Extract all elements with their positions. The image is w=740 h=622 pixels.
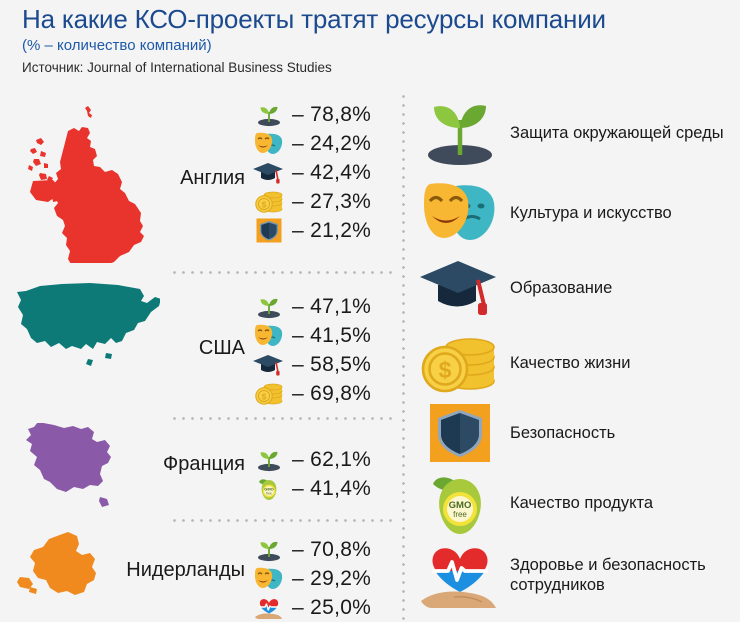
legend-label: Безопасность xyxy=(510,423,615,443)
legend-label: Культура и искусство xyxy=(510,203,672,223)
seedling-icon xyxy=(418,94,502,172)
country-name-england: Англия xyxy=(120,167,245,190)
svg-text:$: $ xyxy=(262,199,267,209)
data-row: – 41,5% xyxy=(248,321,371,350)
theatre-masks-icon xyxy=(248,565,290,592)
data-value: – 47,1% xyxy=(292,295,371,319)
legend-item-environment: Защита окружающей среды xyxy=(418,94,724,172)
country-block-netherlands: Нидерланды – 70,8% xyxy=(0,523,402,622)
header: На какие КСО-проекты тратят ресурсы комп… xyxy=(22,4,722,76)
page-title: На какие КСО-проекты тратят ресурсы комп… xyxy=(22,4,722,34)
graduation-cap-icon xyxy=(248,351,290,378)
data-row: – 25,0% xyxy=(248,593,371,622)
svg-text:$: $ xyxy=(262,391,267,401)
data-value: – 69,8% xyxy=(292,382,371,406)
section-divider-1 xyxy=(170,271,395,274)
data-value: – 41,4% xyxy=(292,477,371,501)
usa-map xyxy=(10,281,160,379)
section-divider-3 xyxy=(170,519,395,522)
country-block-england: Англия – 78,8% xyxy=(0,95,402,271)
country-block-usa: США – 47,1% xyxy=(0,277,402,417)
legend-item-culture: Культура и искусство xyxy=(418,174,672,252)
seedling-icon xyxy=(248,101,290,128)
data-row: – 78,8% xyxy=(248,100,371,129)
source-note: Источник: Journal of International Busin… xyxy=(22,59,722,76)
data-value: – 41,5% xyxy=(292,324,371,348)
seedling-icon xyxy=(248,293,290,320)
svg-text:free: free xyxy=(266,491,272,495)
infographic-canvas: На какие КСО-проекты тратят ресурсы комп… xyxy=(0,0,740,622)
data-value: – 42,4% xyxy=(292,161,371,185)
data-row: $ – 27,3% xyxy=(248,187,371,216)
legend-label: Здоровье и безопасность сотрудников xyxy=(510,555,735,595)
data-row: – 70,8% xyxy=(248,535,371,564)
legend-item-quality-of-life: $ Качество жизни xyxy=(418,324,631,402)
coins-dollar-icon: $ xyxy=(418,324,502,402)
legend-item-education: Образование xyxy=(418,249,612,327)
data-row: – 58,5% xyxy=(248,350,371,379)
data-row: – 62,1% xyxy=(248,445,371,474)
data-rows-england: – 78,8% – 24,2% xyxy=(248,100,371,245)
data-row: – 29,2% xyxy=(248,564,371,593)
legend-item-safety: Безопасность xyxy=(418,394,615,472)
country-block-france: Франция – 62,1% xyxy=(0,421,402,519)
data-rows-usa: – 47,1% – 41,5% xyxy=(248,292,371,408)
theatre-masks-icon xyxy=(248,130,290,157)
data-value: – 24,2% xyxy=(292,132,371,156)
france-map xyxy=(14,423,122,515)
gmo-free-apple-icon: GMO free xyxy=(418,464,502,542)
graduation-cap-icon xyxy=(248,159,290,186)
theatre-masks-icon xyxy=(248,322,290,349)
country-name-france: Франция xyxy=(110,453,245,476)
country-name-netherlands: Нидерланды xyxy=(80,559,245,582)
theatre-masks-icon xyxy=(418,174,502,252)
data-row: $ – 69,8% xyxy=(248,379,371,408)
seedling-icon xyxy=(248,446,290,473)
data-value: – 21,2% xyxy=(292,219,371,243)
legend-item-product-quality: GMO free Качество продукта xyxy=(418,464,653,542)
data-value: – 27,3% xyxy=(292,190,371,214)
data-row: – 21,2% xyxy=(248,216,371,245)
legend-label: Качество жизни xyxy=(510,353,631,373)
coins-dollar-icon: $ xyxy=(248,380,290,407)
country-name-usa: США xyxy=(130,337,245,360)
svg-text:free: free xyxy=(453,510,467,519)
data-rows-france: – 62,1% GMO free – 41,4% xyxy=(248,445,371,503)
data-value: – 62,1% xyxy=(292,448,371,472)
heart-in-hand-icon xyxy=(248,594,290,621)
data-value: – 58,5% xyxy=(292,353,371,377)
data-value: – 78,8% xyxy=(292,103,371,127)
legend-item-employee-health: Здоровье и безопасность сотрудников xyxy=(418,536,735,614)
page-subtitle: (% – количество компаний) xyxy=(22,37,722,55)
data-row: – 42,4% xyxy=(248,158,371,187)
data-rows-netherlands: – 70,8% – 29,2% xyxy=(248,535,371,622)
data-value: – 29,2% xyxy=(292,567,371,591)
data-value: – 25,0% xyxy=(292,596,371,620)
data-row: – 47,1% xyxy=(248,292,371,321)
graduation-cap-icon xyxy=(418,249,502,327)
shield-icon xyxy=(418,394,502,472)
legend-label: Защита окружающей среды xyxy=(510,123,724,143)
seedling-icon xyxy=(248,536,290,563)
data-value: – 70,8% xyxy=(292,538,371,562)
data-row: GMO free – 41,4% xyxy=(248,474,371,503)
legend-label: Качество продукта xyxy=(510,493,653,513)
section-divider-2 xyxy=(170,417,395,420)
svg-text:$: $ xyxy=(439,357,452,383)
column-divider xyxy=(402,92,405,622)
data-row: – 24,2% xyxy=(248,129,371,158)
legend-label: Образование xyxy=(510,278,612,298)
shield-icon xyxy=(248,217,290,244)
gmo-free-apple-icon: GMO free xyxy=(248,475,290,502)
heart-in-hand-icon xyxy=(418,536,502,614)
coins-dollar-icon: $ xyxy=(248,188,290,215)
